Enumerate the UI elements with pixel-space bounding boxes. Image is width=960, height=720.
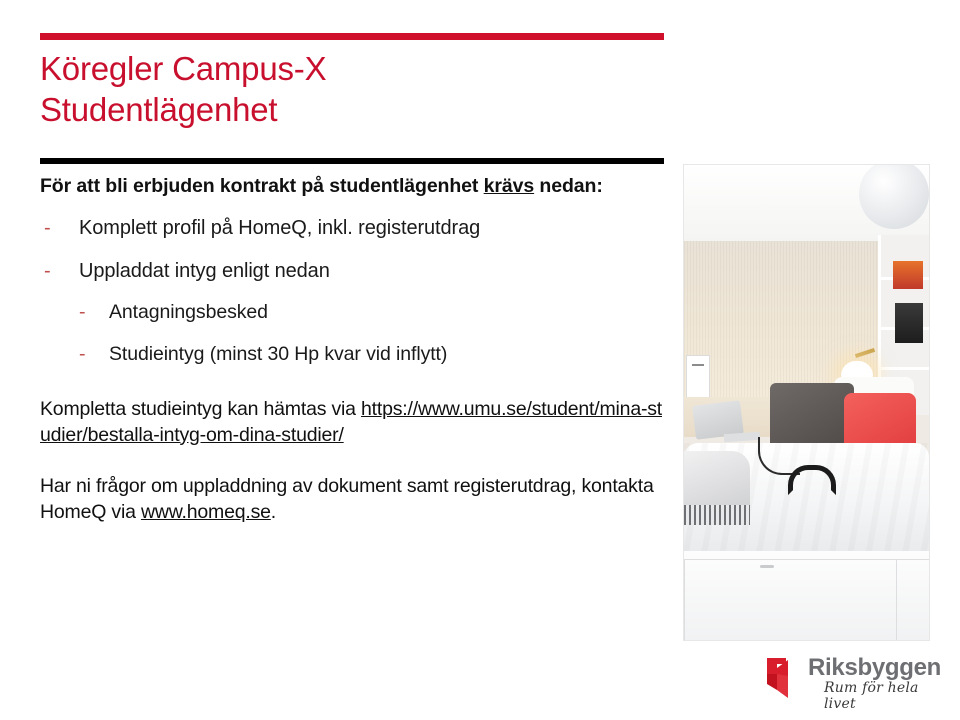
bullet-dash-icon: - bbox=[44, 258, 51, 284]
apartment-photo bbox=[683, 164, 930, 641]
intro-underlined-word: krävs bbox=[484, 175, 534, 197]
sub-requirements-list: - Antagningsbesked - Studieintyg (minst … bbox=[79, 299, 665, 367]
bullet-dash-icon: - bbox=[44, 215, 51, 241]
contact-period: . bbox=[271, 501, 276, 523]
photo-books-dark bbox=[895, 303, 923, 343]
drawer-seam bbox=[684, 559, 929, 560]
frame-line bbox=[692, 364, 704, 366]
certificate-intro-text: Kompletta studieintyg kan hämtas via bbox=[40, 398, 361, 420]
contact-paragraph: Har ni frågor om uppladdning av dokument… bbox=[40, 474, 665, 525]
list-item: - Antagningsbesked bbox=[79, 299, 665, 325]
requirements-list: - Komplett profil på HomeQ, inkl. regist… bbox=[40, 215, 665, 367]
photo-laptop-base bbox=[724, 432, 760, 442]
header-divider bbox=[40, 158, 664, 164]
sub-list-item-label: Antagningsbesked bbox=[109, 301, 268, 323]
page-title-line-2: Studentlägenhet bbox=[40, 89, 660, 130]
contact-intro-text: Har ni frågor om uppladdning av dokument… bbox=[40, 475, 654, 523]
riksbyggen-logo: Riksbyggen Rum för hela livet bbox=[764, 652, 954, 708]
list-item-label: Uppladdat intyg enligt nedan bbox=[79, 260, 330, 282]
photo-headphones bbox=[788, 465, 836, 495]
list-item-label: Komplett profil på HomeQ, inkl. register… bbox=[79, 217, 480, 239]
page-title-line-1: Köregler Campus-X bbox=[40, 48, 660, 89]
drawer-handle bbox=[760, 565, 774, 568]
drawer-seam bbox=[896, 559, 897, 640]
intro-heading: För att bli erbjuden kontrakt på student… bbox=[40, 174, 665, 199]
list-item: - Studieintyg (minst 30 Hp kvar vid infl… bbox=[79, 341, 665, 367]
riksbyggen-mark-icon bbox=[764, 654, 804, 702]
logo-brand-name: Riksbyggen bbox=[808, 654, 941, 682]
photo-books-orange bbox=[893, 261, 923, 289]
homeq-link[interactable]: www.homeq.se bbox=[141, 501, 271, 523]
intro-text-before: För att bli erbjuden kontrakt på student… bbox=[40, 175, 484, 197]
content-column: För att bli erbjuden kontrakt på student… bbox=[40, 174, 665, 525]
list-item: - Uppladdat intyg enligt nedan - Antagni… bbox=[40, 258, 665, 367]
intro-text-after: nedan: bbox=[534, 175, 603, 197]
certificate-paragraph: Kompletta studieintyg kan hämtas via htt… bbox=[40, 397, 665, 448]
sub-bullet-dash-icon: - bbox=[79, 341, 85, 367]
photo-throw-blanket bbox=[684, 451, 750, 525]
page-title: Köregler Campus-X Studentlägenhet bbox=[40, 48, 660, 130]
logo-tagline: Rum för hela livet bbox=[824, 680, 954, 712]
drawer-seam bbox=[684, 559, 685, 640]
photo-storage-drawers bbox=[684, 551, 929, 640]
shelf-board bbox=[881, 367, 929, 370]
photo-wall-frame bbox=[686, 355, 710, 401]
sub-bullet-dash-icon: - bbox=[79, 299, 85, 325]
top-accent-rule bbox=[40, 33, 664, 40]
sub-list-item-label: Studieintyg (minst 30 Hp kvar vid inflyt… bbox=[109, 343, 447, 365]
list-item: - Komplett profil på HomeQ, inkl. regist… bbox=[40, 215, 665, 241]
